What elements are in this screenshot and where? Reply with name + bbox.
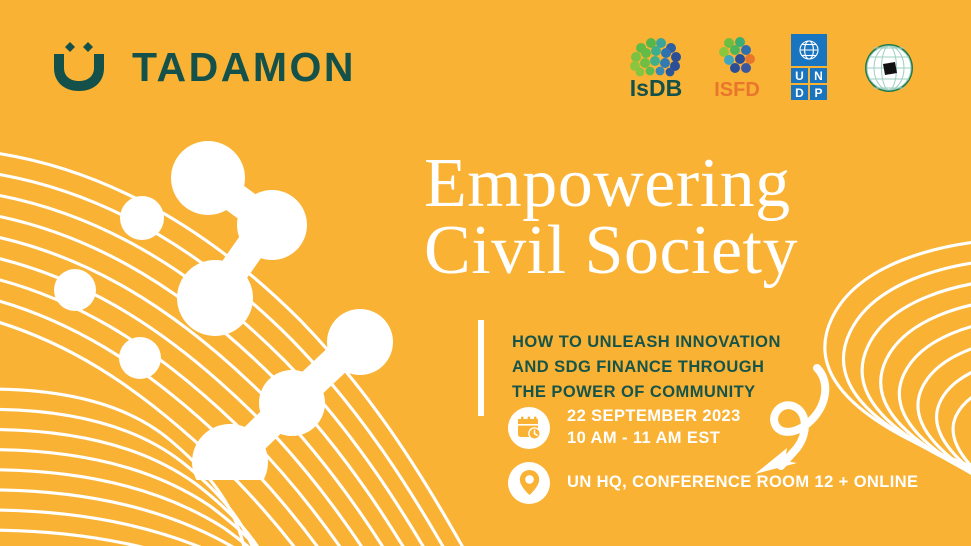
headline-block: Empowering Civil Society	[424, 150, 944, 284]
brand-lockup: TADAMON	[48, 38, 356, 96]
event-banner: TADAMON	[0, 0, 971, 546]
subtitle-accent-rule	[478, 320, 484, 416]
page-title: Empowering Civil Society	[424, 150, 944, 284]
headline-line-1: Empowering	[424, 150, 944, 217]
undp-un-emblem-logo: U N D P	[787, 34, 831, 100]
event-details: 22 SEPTEMBER 2023 10 AM - 11 AM EST UN H…	[508, 406, 918, 516]
detail-row-location: UN HQ, CONFERENCE ROOM 12 + ONLINE	[508, 462, 918, 504]
svg-text:IsDB: IsDB	[630, 75, 682, 100]
curly-arrow-down-left-icon	[735, 362, 845, 480]
isdb-dome-logo: IsDB	[625, 30, 687, 100]
event-date: 22 SEPTEMBER 2023	[567, 406, 741, 428]
datetime-text: 22 SEPTEMBER 2023 10 AM - 11 AM EST	[567, 406, 741, 450]
partner-logos: IsDB ISFD	[625, 30, 917, 100]
svg-text:P: P	[814, 86, 822, 100]
connected-nodes-graphic	[40, 130, 440, 480]
detail-row-datetime: 22 SEPTEMBER 2023 10 AM - 11 AM EST	[508, 406, 918, 450]
svg-text:N: N	[814, 69, 823, 83]
brand-wordmark: TADAMON	[132, 47, 356, 88]
calendar-clock-icon	[508, 407, 550, 449]
svg-text:D: D	[795, 86, 804, 100]
event-time: 10 AM - 11 AM EST	[567, 428, 741, 450]
oic-globe-crescent-logo	[853, 36, 917, 100]
banner-header: TADAMON	[0, 0, 971, 130]
isfd-dome-logo: ISFD	[709, 30, 765, 100]
svg-text:ISFD: ISFD	[714, 79, 760, 100]
svg-text:U: U	[795, 69, 804, 83]
subtitle-line-1: HOW TO UNLEASH INNOVATION	[512, 330, 781, 355]
headline-line-2: Civil Society	[424, 217, 944, 284]
location-pin-icon	[508, 462, 550, 504]
tadamon-smile-icon	[48, 38, 110, 96]
